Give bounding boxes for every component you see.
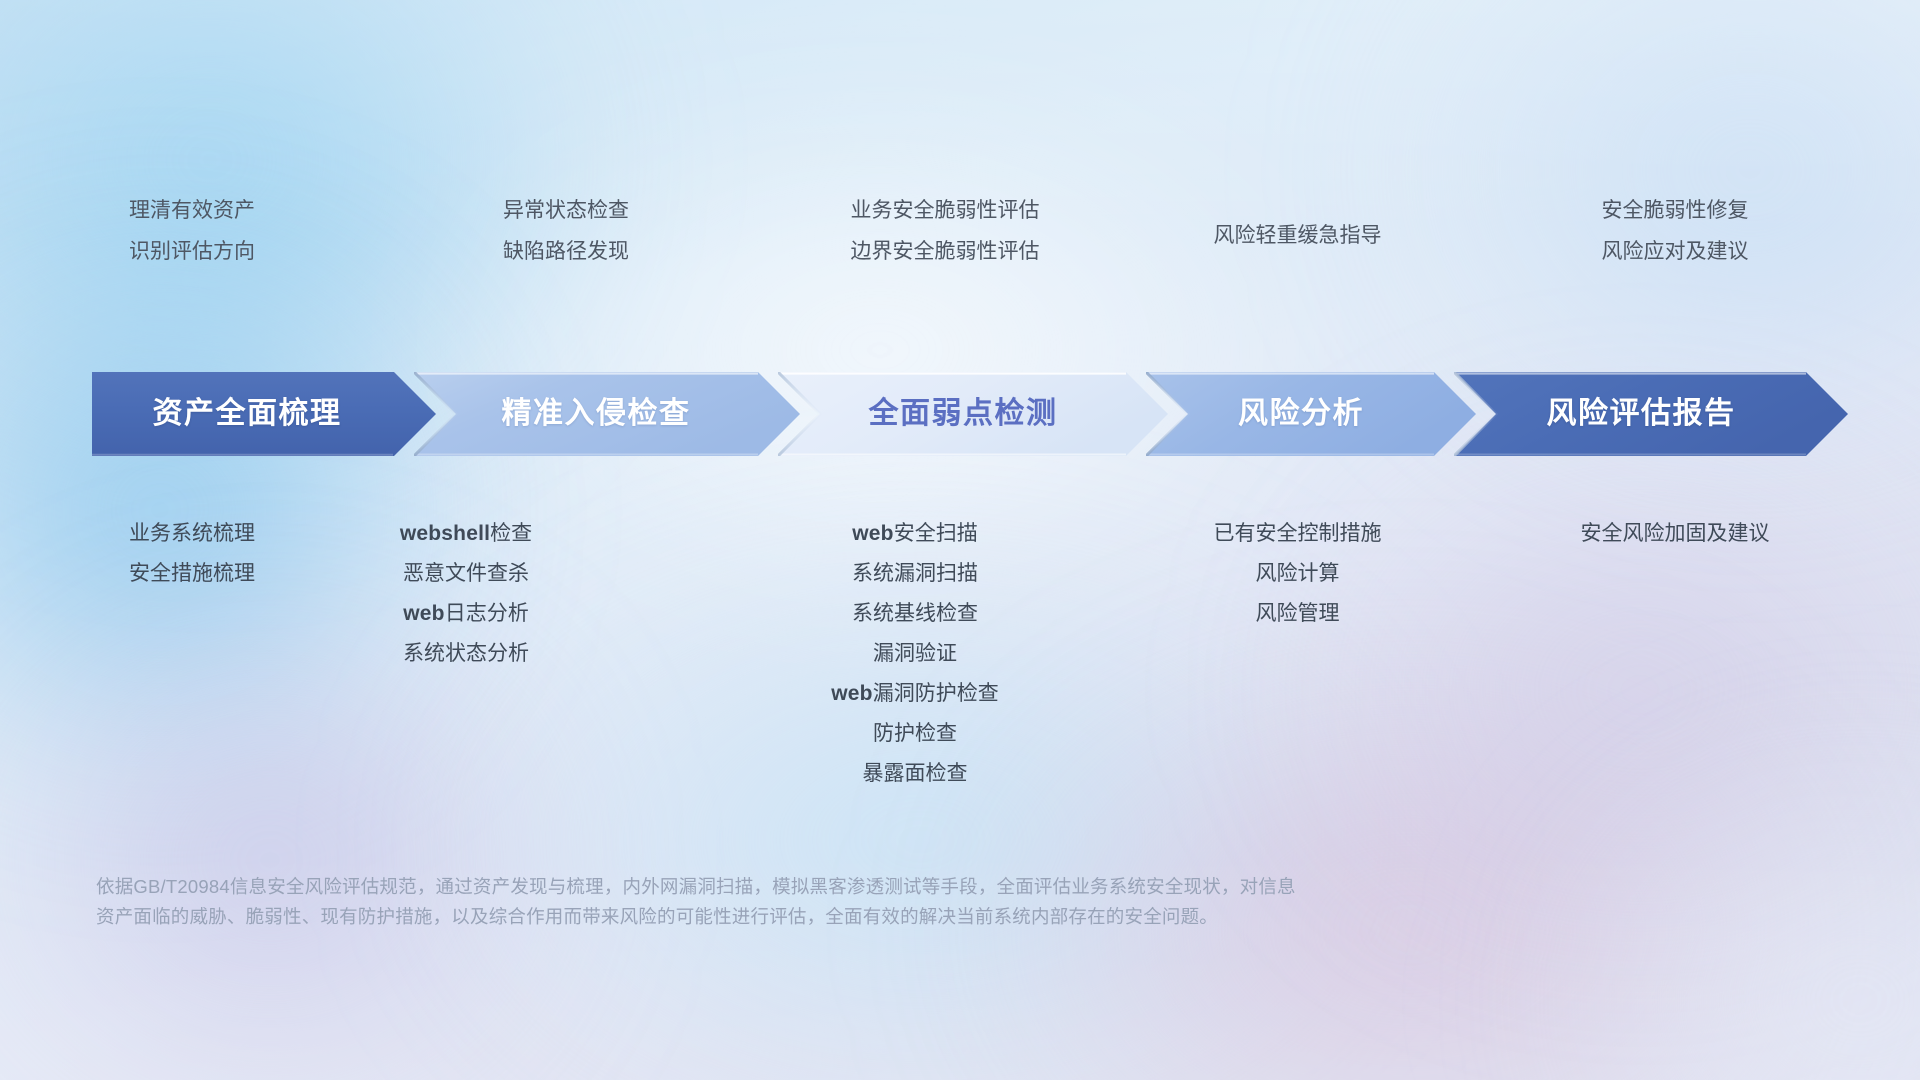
- top-item: 缺陷路径发现: [436, 231, 696, 272]
- detail-item-text: 安全扫描: [894, 522, 978, 545]
- stage-bottom-items-4: 已有安全控制措施 风险计算 风险管理: [1165, 514, 1430, 634]
- top-item: 风险轻重缓急指导: [1165, 215, 1430, 256]
- detail-item: 系统状态分析: [336, 634, 596, 674]
- detail-item-text: 业务系统梳理: [129, 522, 255, 545]
- stage-bottom-items-3: web安全扫描 系统漏洞扫描 系统基线检查 漏洞验证 web漏洞防护检查 防护检…: [760, 514, 1070, 794]
- stage-top-items-3: 业务安全脆弱性评估 边界安全脆弱性评估: [790, 190, 1100, 272]
- stage-bottom-items-1: 业务系统梳理 安全措施梳理: [62, 514, 322, 594]
- detail-item: 暴露面检查: [760, 754, 1070, 794]
- detail-item: 安全措施梳理: [62, 554, 322, 594]
- top-item: 边界安全脆弱性评估: [790, 231, 1100, 272]
- stage-banner-label: 精准入侵检查: [414, 399, 800, 429]
- detail-item-text: 恶意文件查杀: [403, 562, 529, 585]
- top-item: 识别评估方向: [62, 231, 322, 272]
- stage-bottom-items-2: webshell检查 恶意文件查杀 web日志分析 系统状态分析: [336, 514, 596, 674]
- detail-item: 安全风险加固及建议: [1505, 514, 1845, 554]
- stage-top-items-1: 理清有效资产 识别评估方向: [62, 190, 322, 272]
- footer-note: 依据GB/T20984信息安全风险评估规范，通过资产发现与梳理，内外网漏洞扫描，…: [96, 872, 1576, 932]
- detail-item-text: 漏洞验证: [873, 642, 957, 665]
- stage-top-items-5: 安全脆弱性修复 风险应对及建议: [1530, 190, 1820, 272]
- detail-item: web安全扫描: [760, 514, 1070, 554]
- detail-item: web漏洞防护检查: [760, 674, 1070, 714]
- top-item: 安全脆弱性修复: [1530, 190, 1820, 231]
- detail-item: 风险管理: [1165, 594, 1430, 634]
- stage-bottom-items-5: 安全风险加固及建议: [1505, 514, 1845, 554]
- stage-top-items-4: 风险轻重缓急指导: [1165, 215, 1430, 256]
- detail-item: 系统基线检查: [760, 594, 1070, 634]
- footer-line: 资产面临的威胁、脆弱性、现有防护措施，以及综合作用而带来风险的可能性进行评估，全…: [96, 902, 1576, 932]
- stage-banner-label: 风险评估报告: [1454, 399, 1848, 429]
- detail-item-text: 检查: [490, 522, 532, 545]
- detail-item: 系统漏洞扫描: [760, 554, 1070, 594]
- process-banner-row: 资产全面梳理: [92, 372, 1848, 456]
- detail-item-text: 系统漏洞扫描: [852, 562, 978, 585]
- detail-item-text: 安全风险加固及建议: [1581, 522, 1770, 545]
- stage-top-items-2: 异常状态检查 缺陷路径发现: [436, 190, 696, 272]
- detail-item: 已有安全控制措施: [1165, 514, 1430, 554]
- detail-item-lead: web: [403, 602, 444, 625]
- stage-banner-asset-inventory[interactable]: 资产全面梳理: [92, 372, 436, 456]
- detail-item-text: 风险计算: [1256, 562, 1340, 585]
- stage-banner-label: 全面弱点检测: [778, 399, 1168, 429]
- diagram-stage: 理清有效资产 识别评估方向 异常状态检查 缺陷路径发现 业务安全脆弱性评估 边界…: [0, 0, 1920, 1080]
- detail-item-lead: web: [852, 522, 893, 545]
- detail-item: web日志分析: [336, 594, 596, 634]
- detail-item: webshell检查: [336, 514, 596, 554]
- stage-banner-label: 风险分析: [1146, 399, 1476, 429]
- top-item: 业务安全脆弱性评估: [790, 190, 1100, 231]
- footer-line: 依据GB/T20984信息安全风险评估规范，通过资产发现与梳理，内外网漏洞扫描，…: [96, 872, 1576, 902]
- detail-item-text: 系统基线检查: [852, 602, 978, 625]
- stage-banner-label: 资产全面梳理: [92, 399, 436, 429]
- top-item: 异常状态检查: [436, 190, 696, 231]
- top-item: 理清有效资产: [62, 190, 322, 231]
- detail-item-text: 防护检查: [873, 722, 957, 745]
- top-item: 风险应对及建议: [1530, 231, 1820, 272]
- detail-item: 防护检查: [760, 714, 1070, 754]
- detail-item: 风险计算: [1165, 554, 1430, 594]
- detail-item: 业务系统梳理: [62, 514, 322, 554]
- detail-item-lead: web: [831, 682, 872, 705]
- detail-item-text: 暴露面检查: [863, 762, 968, 785]
- detail-item-text: 安全措施梳理: [129, 562, 255, 585]
- stage-banner-weakness-detection[interactable]: 全面弱点检测: [778, 372, 1168, 456]
- detail-item-text: 日志分析: [445, 602, 529, 625]
- detail-item-text: 已有安全控制措施: [1214, 522, 1382, 545]
- stage-banner-risk-report[interactable]: 风险评估报告: [1454, 372, 1848, 456]
- detail-item: 恶意文件查杀: [336, 554, 596, 594]
- detail-item-lead: webshell: [400, 522, 490, 545]
- detail-item-text: 风险管理: [1256, 602, 1340, 625]
- stage-banner-intrusion-check[interactable]: 精准入侵检查: [414, 372, 800, 456]
- stage-banner-risk-analysis[interactable]: 风险分析: [1146, 372, 1476, 456]
- detail-item-text: 系统状态分析: [403, 642, 529, 665]
- detail-item: 漏洞验证: [760, 634, 1070, 674]
- detail-item-text: 漏洞防护检查: [873, 682, 999, 705]
